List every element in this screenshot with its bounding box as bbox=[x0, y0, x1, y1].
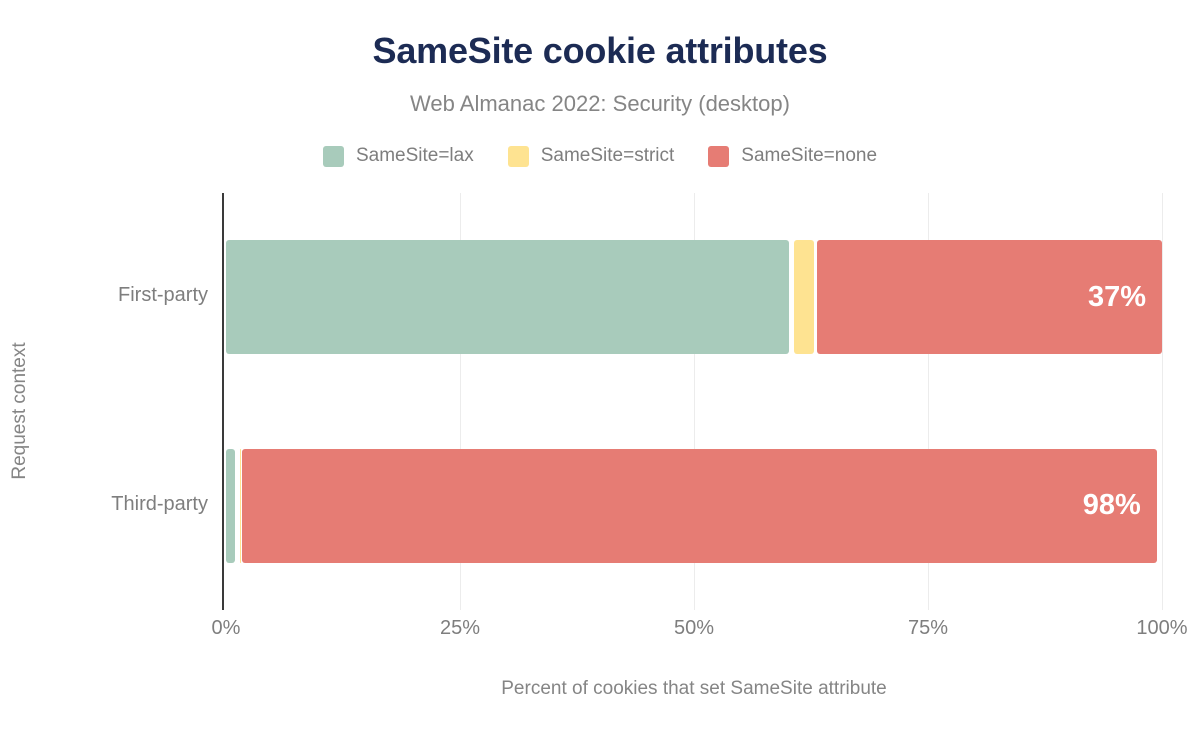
legend-item-label: SameSite=strict bbox=[541, 145, 675, 167]
x-axis-title: Percent of cookies that set SameSite att… bbox=[226, 678, 1162, 700]
legend-swatch-icon bbox=[708, 146, 729, 167]
x-axis-tick-label: 0% bbox=[166, 617, 286, 640]
bar-segment[interactable] bbox=[794, 240, 814, 354]
legend-item-label: SameSite=none bbox=[741, 145, 877, 167]
x-axis-tick-label: 25% bbox=[400, 617, 520, 640]
y-axis-line bbox=[222, 193, 224, 610]
bar-segment[interactable] bbox=[817, 240, 1162, 354]
x-axis-tick-label: 100% bbox=[1102, 617, 1200, 640]
y-axis-tick-label: First-party bbox=[8, 284, 208, 307]
chart-container: SameSite cookie attributes Web Almanac 2… bbox=[0, 0, 1200, 742]
gridline bbox=[1162, 193, 1163, 610]
legend-item[interactable]: SameSite=none bbox=[708, 145, 877, 167]
bar-segment[interactable] bbox=[226, 449, 235, 563]
legend-swatch-icon bbox=[323, 146, 344, 167]
x-axis-tick-label: 75% bbox=[868, 617, 988, 640]
bar-segment[interactable] bbox=[242, 449, 1156, 563]
bar-segment[interactable] bbox=[226, 240, 789, 354]
bar-segment[interactable] bbox=[240, 449, 241, 563]
bar-group: 98% bbox=[226, 449, 1162, 563]
x-axis-tick-label: 50% bbox=[634, 617, 754, 640]
y-axis-tick-label: Third-party bbox=[8, 493, 208, 516]
legend-swatch-icon bbox=[508, 146, 529, 167]
plot-area: 37%98% bbox=[226, 193, 1162, 610]
legend-item-label: SameSite=lax bbox=[356, 145, 474, 167]
bar-group: 37% bbox=[226, 240, 1162, 354]
legend-item[interactable]: SameSite=lax bbox=[323, 145, 474, 167]
y-axis-title: Request context bbox=[9, 251, 31, 571]
legend-item[interactable]: SameSite=strict bbox=[508, 145, 675, 167]
